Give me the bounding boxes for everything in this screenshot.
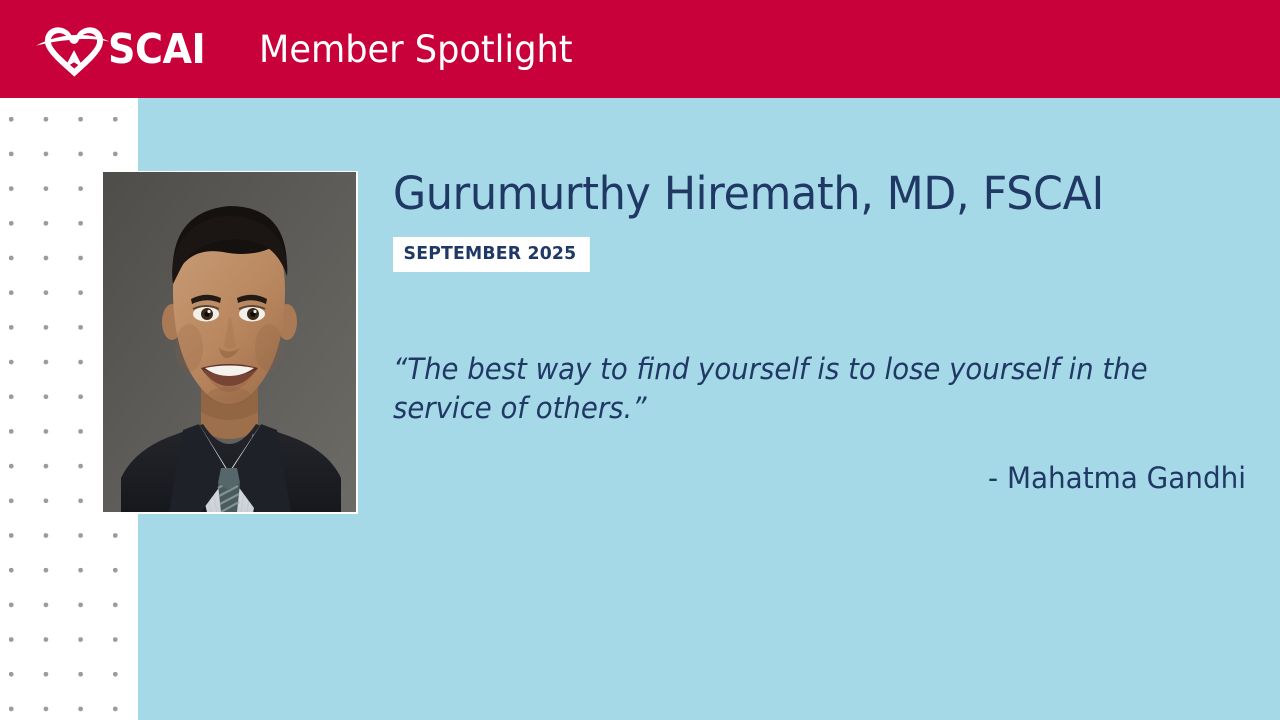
quote-attribution: - Mahatma Gandhi	[427, 461, 1246, 496]
spotlight-content: Gurumurthy Hiremath, MD, FSCAI SEPTEMBER…	[393, 168, 1253, 496]
header-title: Member Spotlight	[259, 31, 573, 68]
scai-brand-wordmark: SCAI	[108, 29, 205, 70]
date-badge: SEPTEMBER 2025	[393, 237, 590, 272]
member-name: Gurumurthy Hiremath, MD, FSCAI	[393, 168, 1210, 219]
scai-heart-swoosh-logo-icon	[36, 21, 112, 77]
header-bar: SCAI Member Spotlight	[0, 0, 1280, 98]
member-spotlight-slide: SCAI Member Spotlight	[0, 0, 1280, 720]
quote-text: “The best way to find yourself is to los…	[393, 350, 1191, 427]
portrait-photo	[103, 172, 356, 512]
